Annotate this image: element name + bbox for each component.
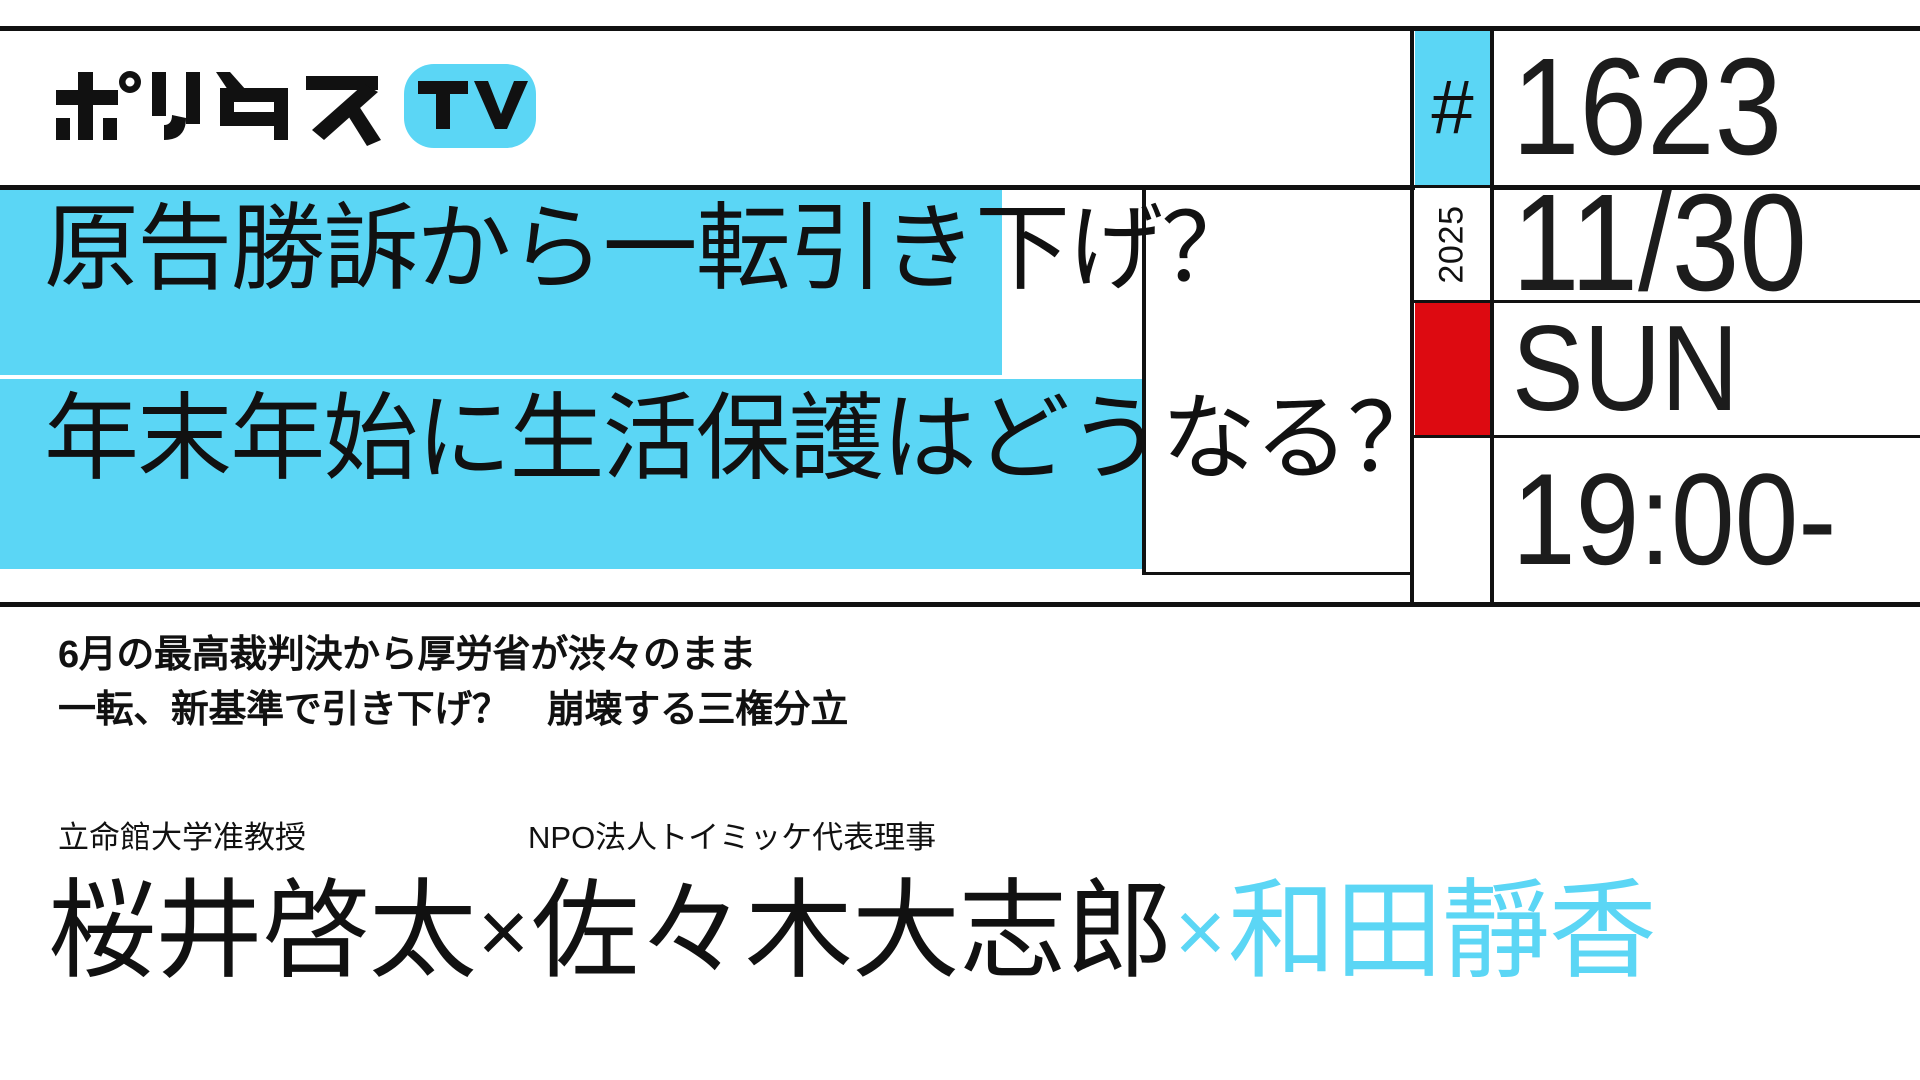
politas-wordmark-icon — [56, 66, 396, 146]
headline-secondary: 年末年始に生活保護はどうなる？ — [44, 392, 1441, 487]
tv-badge-icon — [404, 64, 536, 148]
episode-number: 1623 — [1512, 42, 1782, 173]
speaker-affiliations: 立命館大学准教授 NPO法人トイミッケ代表理事 — [58, 822, 1458, 866]
date-cell: 11/30 — [1490, 188, 1920, 300]
episode-hash-cell: # — [1415, 31, 1490, 185]
broadcast-time: 19:00- — [1512, 458, 1836, 582]
year-label: 2025 — [1433, 205, 1472, 283]
meta-row-weekday: SUN — [1415, 303, 1920, 435]
speaker-name-3: 和田靜香 — [1228, 872, 1656, 991]
subtitle-line-1: 6月の最高裁判決から厚労省が渋々のまま — [58, 628, 1358, 683]
hash-symbol: # — [1431, 70, 1473, 146]
grid-vrule-meta-left — [1410, 26, 1414, 602]
meta-row-time: 19:00- — [1415, 438, 1920, 602]
speaker-names: 桜井啓太 × 佐々木大志郎 × 和田靜香 — [48, 872, 1888, 1002]
speaker-name-1: 桜井啓太 — [48, 872, 476, 991]
speaker-separator-1: × — [476, 872, 531, 992]
speaker-separator-2: × — [1173, 872, 1228, 992]
meta-row-episode: # 1623 — [1415, 31, 1920, 185]
time-cell: 19:00- — [1490, 438, 1920, 602]
speaker-name-2: 佐々木大志郎 — [531, 872, 1173, 991]
brand-logo[interactable] — [56, 60, 536, 152]
subtitle-line-2: 一転、新基準で引き下げ？ 崩壊する三権分立 — [58, 683, 1358, 738]
affiliation-sasaki: NPO法人トイミッケ代表理事 — [528, 822, 936, 853]
affiliation-sakurai: 立命館大学准教授 — [58, 822, 306, 853]
broadcast-date: 11/30 — [1512, 188, 1807, 300]
subtitle-block: 6月の最高裁判決から厚労省が渋々のまま 一転、新基準で引き下げ？ 崩壊する三権分… — [58, 628, 1358, 738]
poster-canvas: 原告勝訴から一転引き下げ？ 年末年始に生活保護はどうなる？ # 1623 202… — [0, 0, 1920, 1080]
meta-rule-gap — [1142, 572, 1414, 575]
episode-number-cell: 1623 — [1490, 31, 1920, 185]
weekday-cell: SUN — [1490, 303, 1920, 435]
weekday-marker-cell — [1415, 303, 1490, 435]
meta-row-date: 2025 11/30 — [1415, 188, 1920, 300]
header-grid: 原告勝訴から一転引き下げ？ 年末年始に生活保護はどうなる？ # 1623 202… — [0, 26, 1920, 610]
year-cell: 2025 — [1415, 188, 1490, 300]
grid-rule-bottom — [0, 602, 1920, 607]
episode-meta-block: # 1623 2025 11/30 SUN — [1415, 26, 1920, 602]
broadcast-weekday: SUN — [1512, 311, 1739, 427]
time-marker-cell — [1415, 438, 1490, 602]
headline-primary: 原告勝訴から一転引き下げ？ — [44, 202, 1254, 297]
